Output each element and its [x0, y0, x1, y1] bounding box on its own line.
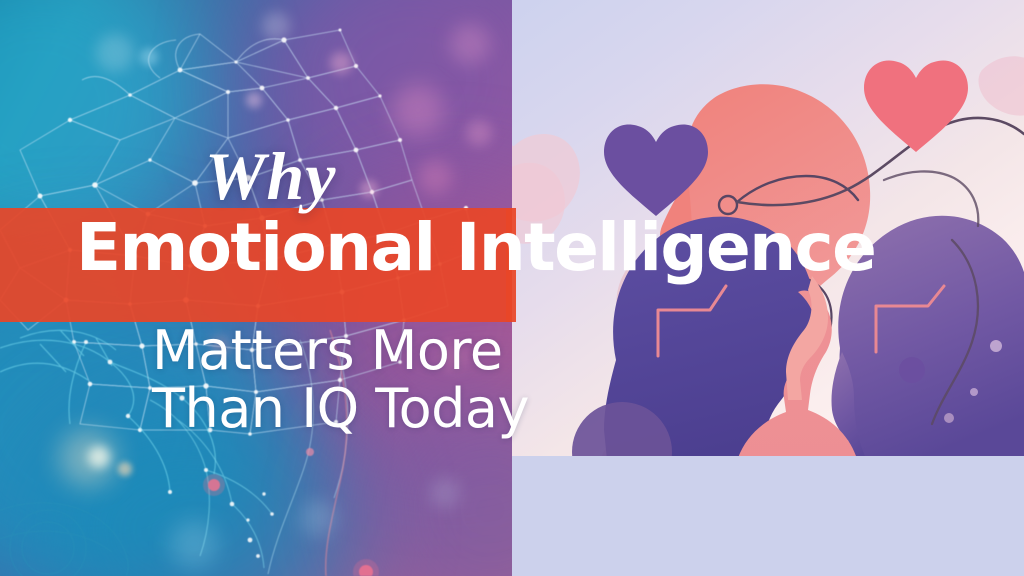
dot	[970, 388, 978, 396]
dot	[944, 413, 954, 423]
emotional-intelligence-illustration	[512, 0, 1024, 576]
headline-why: Why	[205, 143, 336, 210]
poster-canvas: Why Emotional Intelligence Matters More …	[0, 0, 1024, 576]
headline-subtitle-line2: Than IQ Today	[152, 380, 529, 438]
ghost-leaf-farright	[979, 56, 1024, 117]
headline-subtitle-line1: Matters More	[152, 322, 529, 380]
headline-subtitle: Matters More Than IQ Today	[152, 322, 529, 439]
dot	[899, 357, 925, 383]
dot	[990, 340, 1002, 352]
heart-icon-top-right	[864, 60, 968, 152]
illustration-floor	[512, 456, 1024, 576]
headline-main: Emotional Intelligence	[76, 214, 875, 281]
